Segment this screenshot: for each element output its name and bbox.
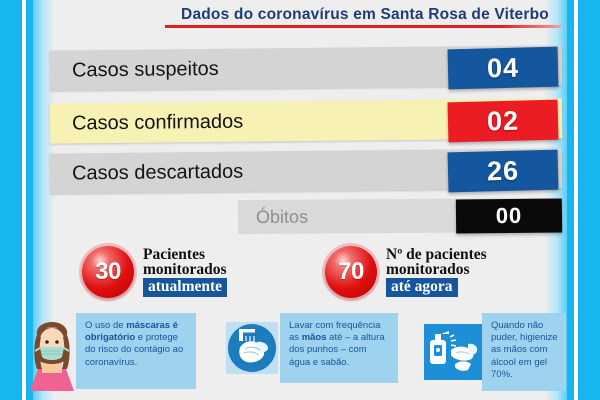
advice-panel-wash-hands: Lavar com frequência as mãos até – a alt… bbox=[226, 313, 398, 383]
monitoring-line-1: Pacientes bbox=[143, 247, 227, 262]
monitoring-text: Pacientes monitorados atualmente bbox=[143, 247, 227, 297]
monitoring-line-2: monitorados bbox=[143, 262, 227, 277]
stat-row-casos-descartados: Casos descartados 26 bbox=[50, 151, 562, 191]
right-border-band bbox=[578, 0, 600, 400]
title-underline-rule bbox=[165, 25, 561, 28]
advice-text-bubble: O uso de máscaras é obrigatório e proteg… bbox=[76, 313, 196, 389]
stat-row-value: 26 bbox=[487, 155, 520, 187]
infographic-poster: Dados do coronavírus em Santa Rosa de Vi… bbox=[0, 0, 600, 400]
right-border-thin-band bbox=[567, 0, 574, 400]
hand-sanitizer-icon bbox=[424, 324, 482, 380]
stat-row-value: 02 bbox=[487, 105, 520, 137]
monitoring-line-2: monitorados bbox=[386, 262, 487, 277]
advice-text-part-1: O uso de bbox=[85, 320, 126, 331]
advice-text-bubble: Lavar com frequência as mãos até – a alt… bbox=[280, 313, 398, 383]
stat-row-value-box: 26 bbox=[448, 150, 559, 193]
stat-row-label: Casos confirmados bbox=[50, 110, 243, 135]
advice-text-emphasis: mãos bbox=[302, 332, 327, 343]
count-badge-value: 70 bbox=[338, 258, 364, 286]
stat-row-label: Casos suspeitos bbox=[50, 57, 219, 82]
stat-row-value-box: 04 bbox=[448, 47, 559, 90]
hand-washing-icon bbox=[226, 322, 278, 374]
monitoring-block-atualmente: 30 Pacientes monitorados atualmente bbox=[82, 246, 227, 298]
stat-row-value: 04 bbox=[487, 52, 520, 84]
monitoring-highlight: até agora bbox=[386, 278, 458, 297]
stat-row-casos-confirmados: Casos confirmados 02 bbox=[50, 101, 562, 141]
advice-text-part-1: Quando não puder, higienize as mãos com … bbox=[491, 320, 558, 380]
stat-row-value: 00 bbox=[496, 203, 523, 229]
stat-row-value-box: 00 bbox=[456, 198, 562, 233]
page-title: Dados do coronavírus em Santa Rosa de Vi… bbox=[165, 6, 565, 24]
advice-text-bubble: Quando não puder, higienize as mãos com … bbox=[482, 313, 566, 391]
monitoring-line-1: Nº de pacientes bbox=[386, 247, 487, 262]
left-border-band bbox=[0, 0, 22, 400]
stat-row-label: Casos descartados bbox=[50, 160, 243, 185]
stat-row-value-box: 02 bbox=[448, 100, 559, 143]
woman-wearing-mask-icon bbox=[24, 311, 80, 391]
monitoring-block-ate-agora: 70 Nº de pacientes monitorados até agora bbox=[325, 246, 487, 298]
stat-row-obitos: Óbitos 00 bbox=[238, 199, 562, 239]
stat-row-label: Óbitos bbox=[238, 206, 308, 227]
count-badge-value: 30 bbox=[95, 258, 121, 286]
count-badge-circle: 70 bbox=[325, 246, 377, 298]
stat-row-casos-suspeitos: Casos suspeitos 04 bbox=[50, 48, 562, 88]
advice-panel-hand-sanitizer: Quando não puder, higienize as mãos com … bbox=[424, 313, 566, 391]
monitoring-text: Nº de pacientes monitorados até agora bbox=[386, 247, 487, 297]
monitoring-highlight: atualmente bbox=[143, 278, 227, 297]
count-badge-circle: 30 bbox=[82, 246, 134, 298]
advice-panel-mask: O uso de máscaras é obrigatório e proteg… bbox=[24, 311, 196, 391]
page-title-block: Dados do coronavírus em Santa Rosa de Vi… bbox=[165, 6, 565, 28]
